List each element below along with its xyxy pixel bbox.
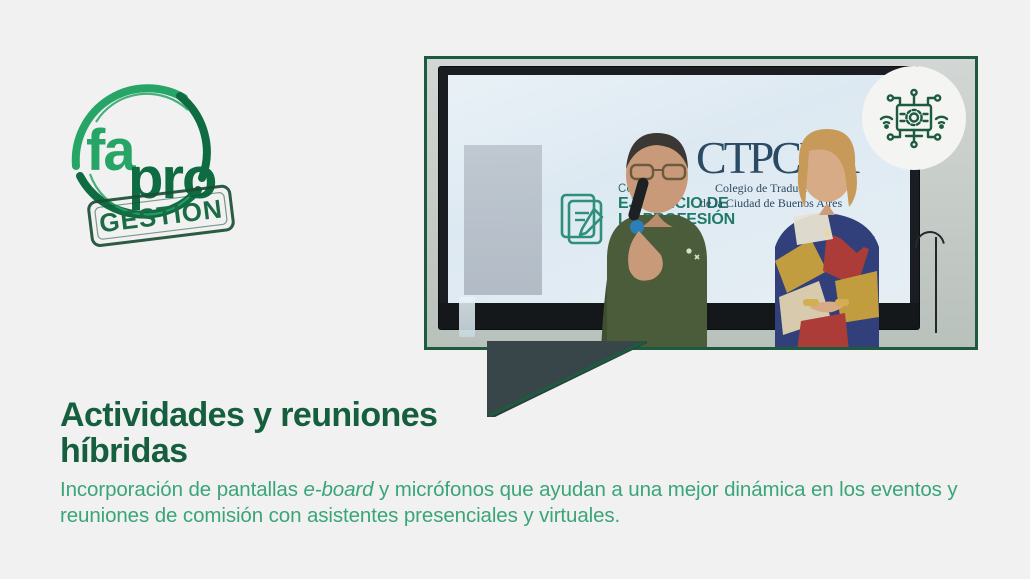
gestion-stamp: GESTIÓN (88, 185, 234, 246)
smart-board-network-badge (862, 66, 966, 170)
page-description: Incorporación de pantallas e-board y mic… (60, 477, 990, 529)
water-glass (459, 297, 475, 337)
description-emphasis: e-board (303, 478, 373, 501)
wall-shadow (464, 145, 542, 295)
description-part-1: Incorporación de pantallas (60, 478, 303, 501)
slide-root: fa pro GESTIÓN (0, 0, 1030, 579)
microphone-stand (935, 237, 937, 333)
fapro-gestion-logo: fa pro GESTIÓN (52, 58, 242, 248)
speaker-man (577, 119, 737, 347)
page-title: Actividades y reuniones híbridas (60, 397, 530, 469)
logo-svg: fa pro GESTIÓN (52, 58, 242, 248)
smart-board-network-icon (875, 79, 953, 157)
